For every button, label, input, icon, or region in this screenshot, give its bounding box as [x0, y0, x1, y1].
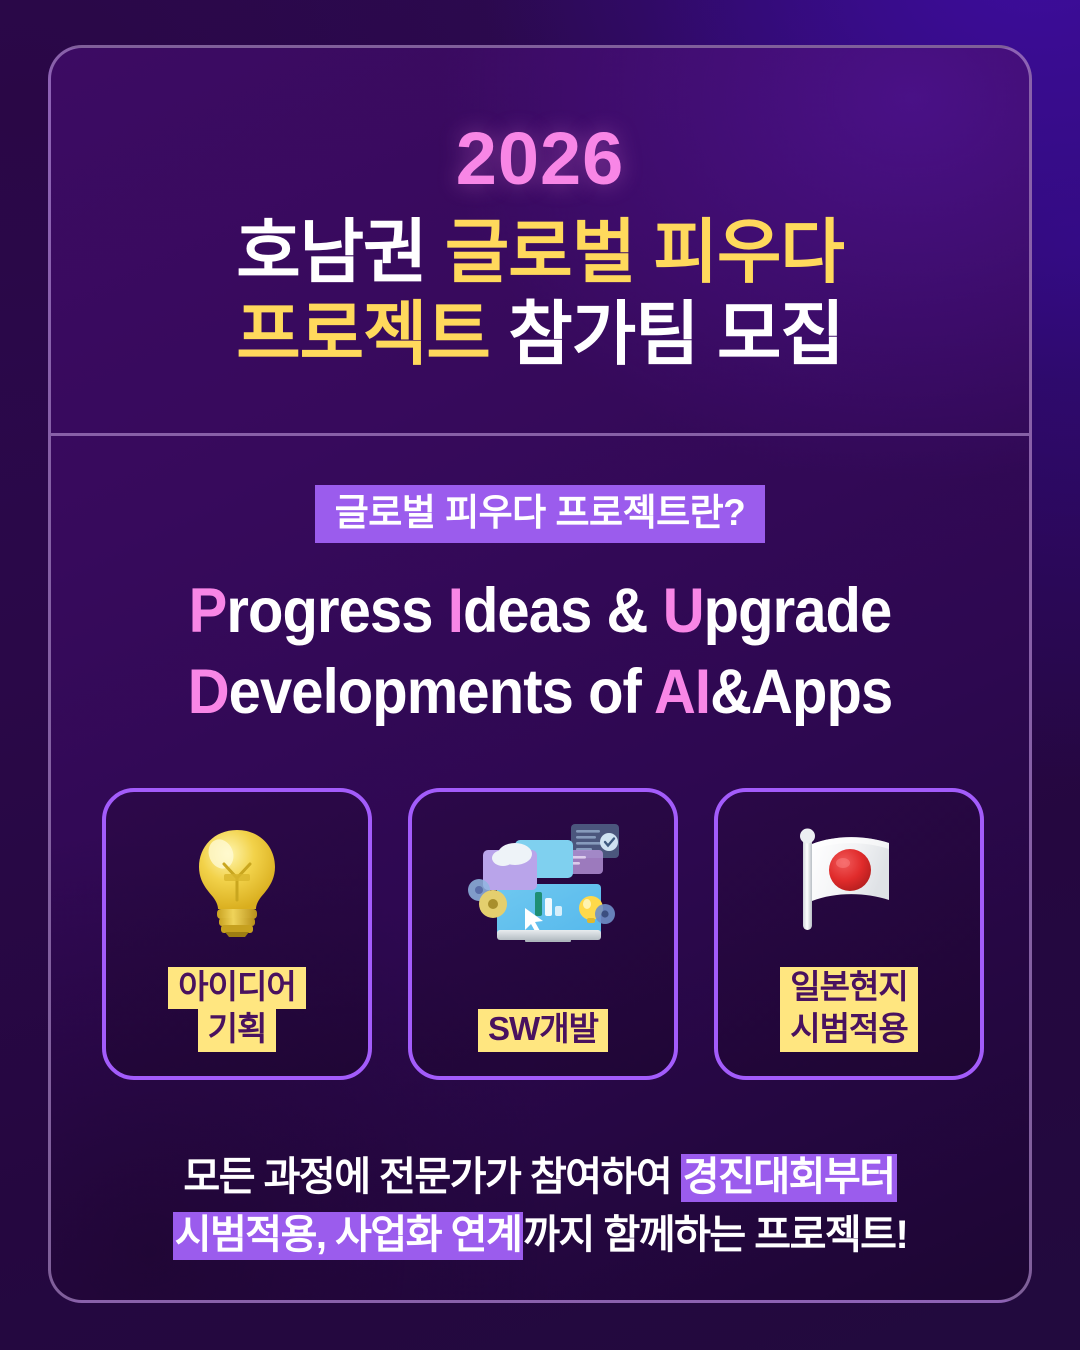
- title-segment: 글로벌 피우다: [445, 213, 844, 291]
- acronym-text: deas &: [463, 576, 663, 646]
- process-card-label-text: SW개발: [478, 1009, 608, 1052]
- lightbulb-icon: [191, 826, 283, 938]
- header-divider: [51, 433, 1029, 436]
- japan-flag-icon-wrap: [789, 822, 909, 942]
- footer-highlight: 시범적용, 사업화 연계: [173, 1212, 524, 1260]
- footer-text: 모든 과정에 전문가가 참여하여: [183, 1155, 680, 1199]
- desktop-software-icon-wrap: [463, 822, 623, 942]
- process-card-label: 아이디어기획: [106, 967, 368, 1052]
- process-card-label-line: 일본현지: [718, 967, 980, 1010]
- footer-section: 모든 과정에 전문가가 참여하여 경진대회부터시범적용, 사업화 연계까지 함께…: [51, 1148, 1029, 1265]
- acronym-text: rogress: [226, 576, 447, 646]
- title-line-1: 호남권 글로벌 피우다: [236, 212, 844, 294]
- acronym-capital: I: [448, 576, 463, 646]
- acronym-text: pgrade: [704, 576, 892, 646]
- lightbulb-icon-wrap: [191, 822, 283, 942]
- process-card-label-line: 기획: [106, 1009, 368, 1052]
- title-segment: 프로젝트: [236, 295, 490, 373]
- process-card-label-line: SW개발: [412, 1009, 674, 1052]
- desktop-software-icon: [463, 822, 623, 942]
- process-card-label-text: 기획: [198, 1009, 277, 1052]
- acronym-capital: D: [188, 657, 229, 727]
- acronym-capital: U: [663, 576, 704, 646]
- title-segment: 호남권: [236, 213, 445, 291]
- acronym-capital: AI: [654, 657, 710, 727]
- process-card-3[interactable]: 일본현지시범적용: [714, 788, 984, 1080]
- process-card-label-text: 시범적용: [780, 1009, 917, 1052]
- footer-line-2: 시범적용, 사업화 연계까지 함께하는 프로젝트!: [51, 1206, 1029, 1264]
- title-segment: 참가팀 모집: [490, 295, 844, 373]
- process-card-label-line: 시범적용: [718, 1009, 980, 1052]
- poster-frame: 2026 호남권 글로벌 피우다프로젝트 참가팀 모집 글로벌 피우다 프로젝트…: [48, 45, 1032, 1303]
- acronym-text: evelopments of: [229, 657, 654, 727]
- title-line-2: 프로젝트 참가팀 모집: [236, 294, 844, 376]
- process-card-label: 일본현지시범적용: [718, 967, 980, 1052]
- footer-highlight: 경진대회부터: [681, 1154, 897, 1202]
- footer-line-1: 모든 과정에 전문가가 참여하여 경진대회부터: [51, 1148, 1029, 1206]
- acronym-block: Progress Ideas & Upgrade Developments of…: [51, 571, 1029, 732]
- process-card-label-line: 아이디어: [106, 967, 368, 1010]
- footer-text: 까지 함께하는 프로젝트!: [523, 1213, 907, 1257]
- process-card-1[interactable]: 아이디어기획: [102, 788, 372, 1080]
- japan-flag-icon: [789, 822, 909, 942]
- acronym-line-2: Developments of AI&Apps: [90, 652, 990, 733]
- process-card-label-text: 일본현지: [780, 967, 917, 1010]
- process-card-label-text: 아이디어: [168, 967, 305, 1010]
- whatis-badge: 글로벌 피우다 프로젝트란?: [315, 485, 766, 543]
- acronym-line-1: Progress Ideas & Upgrade: [90, 571, 990, 652]
- process-card-label: SW개발: [412, 1009, 674, 1052]
- year-label: 2026: [456, 122, 625, 196]
- poster-title: 호남권 글로벌 피우다프로젝트 참가팀 모집: [236, 212, 844, 376]
- acronym-text: &Apps: [710, 657, 892, 727]
- whatis-row: 글로벌 피우다 프로젝트란?: [51, 485, 1029, 543]
- header-section: 2026 호남권 글로벌 피우다프로젝트 참가팀 모집: [51, 48, 1029, 435]
- process-cards-row: 아이디어기획: [102, 788, 984, 1080]
- acronym-capital: P: [189, 576, 227, 646]
- process-card-2[interactable]: SW개발: [408, 788, 678, 1080]
